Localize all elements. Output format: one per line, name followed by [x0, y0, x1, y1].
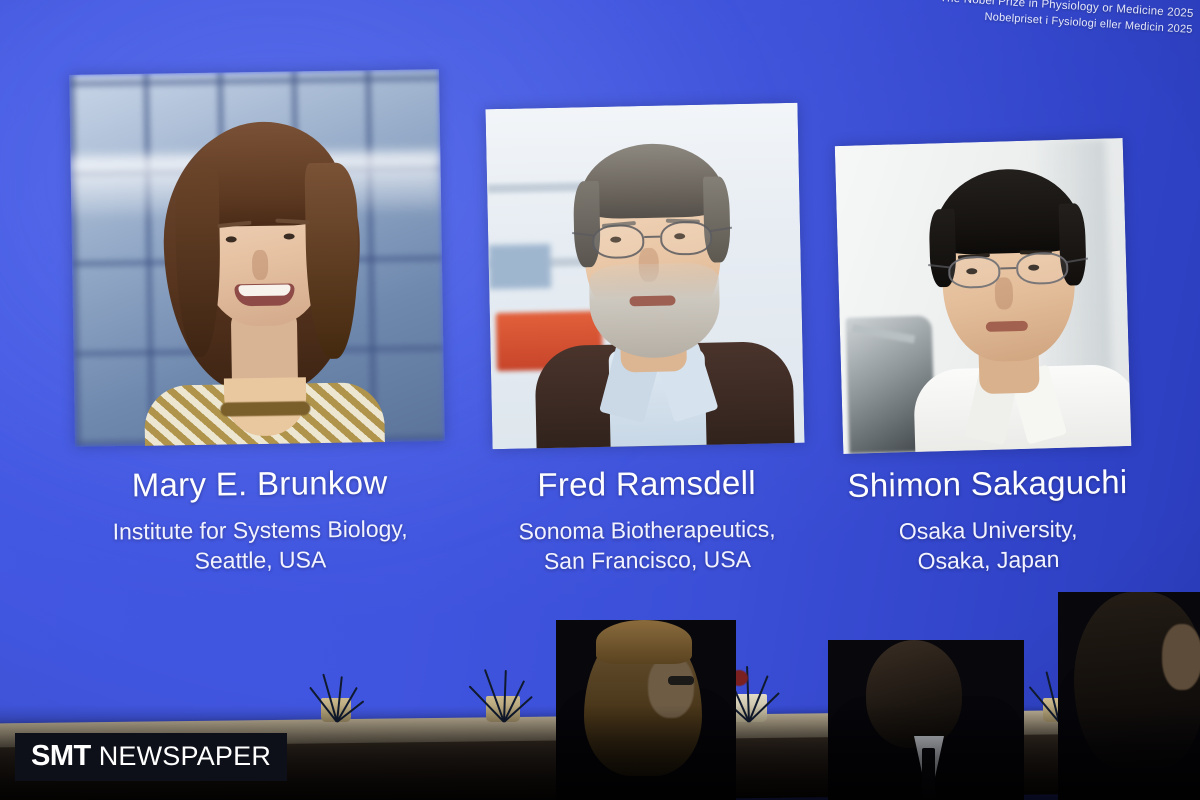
laureate-affiliation-line1: Osaka University,: [899, 516, 1078, 544]
portrait-mary-brunkow: [69, 69, 445, 447]
laureate-affiliation-line1: Institute for Systems Biology,: [113, 516, 408, 545]
portrait-figure: [485, 103, 804, 449]
caption-shimon-sakaguchi: Shimon Sakaguchi Osaka University, Osaka…: [837, 464, 1139, 578]
potted-plant: [460, 650, 546, 722]
portrait-shimon-sakaguchi: [835, 138, 1131, 454]
laureate-name: Fred Ramsdell: [486, 464, 806, 504]
laureate-name: Mary E. Brunkow: [59, 464, 459, 504]
laureate-affiliation-line2: San Francisco, USA: [544, 546, 751, 574]
portrait-figure: [69, 69, 445, 447]
watermark: SMT NEWSPAPER: [15, 733, 287, 781]
eyeglasses-icon: [668, 676, 694, 685]
audience-member-woman-right: [1058, 592, 1200, 800]
laureate-affiliation-line2: Osaka, Japan: [917, 546, 1059, 574]
portrait-figure: [835, 138, 1131, 454]
audience-member-woman: [556, 620, 736, 800]
watermark-primary: SMT: [31, 740, 91, 773]
screenshot-root: The Nobel Prize in Physiology or Medicin…: [0, 0, 1200, 800]
audience-member-man: [828, 640, 1024, 800]
watermark-secondary: NEWSPAPER: [99, 741, 271, 772]
caption-mary-brunkow: Mary E. Brunkow Institute for Systems Bi…: [59, 464, 460, 578]
laureate-affiliation-line1: Sonoma Biotherapeutics,: [518, 516, 775, 545]
portrait-fred-ramsdell: [485, 103, 804, 449]
potted-plant: [296, 656, 376, 722]
laureate-name: Shimon Sakaguchi: [837, 464, 1137, 504]
caption-fred-ramsdell: Fred Ramsdell Sonoma Biotherapeutics, Sa…: [486, 464, 807, 577]
laureate-affiliation-line2: Seattle, USA: [194, 546, 326, 573]
